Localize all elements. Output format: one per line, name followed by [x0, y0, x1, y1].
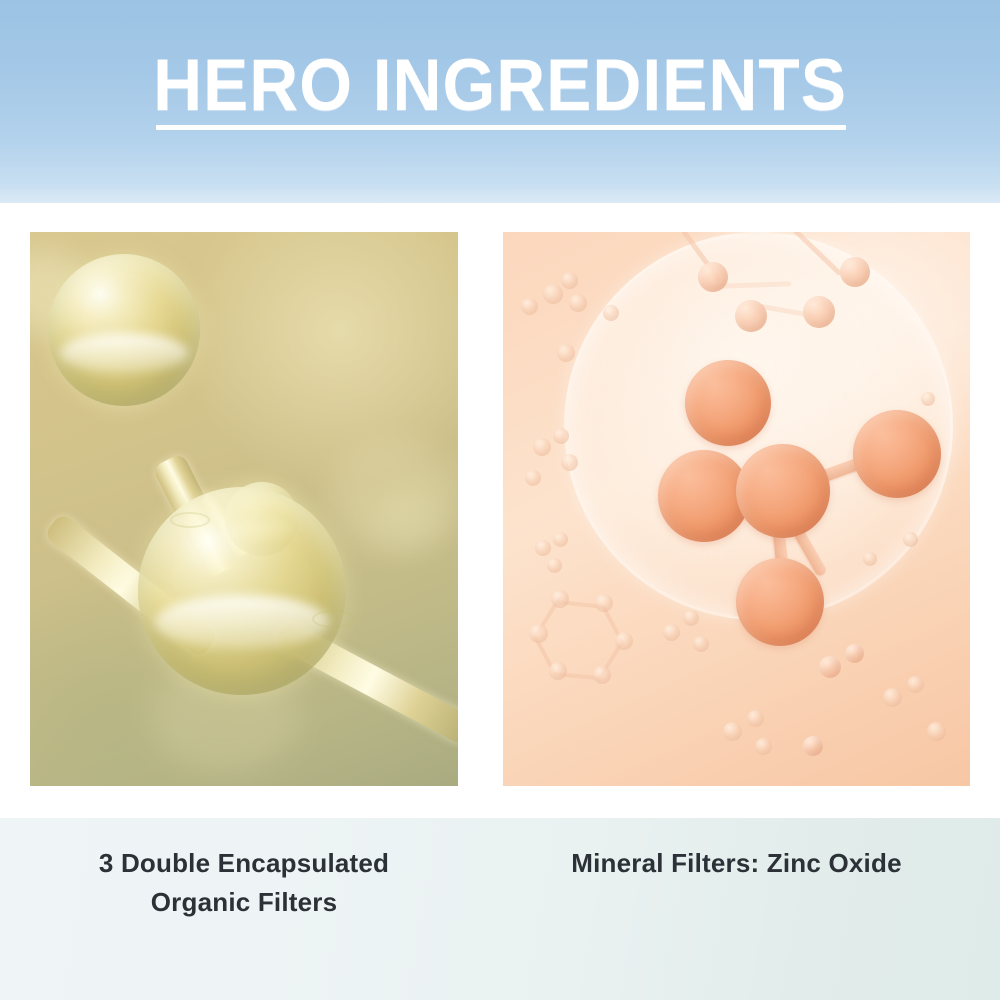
background-atom — [593, 666, 611, 684]
caption-right: Mineral Filters: Zinc Oxide — [503, 844, 970, 883]
background-atom — [903, 532, 918, 547]
background-atom — [521, 298, 538, 315]
caption-left-line-2: Organic Filters — [30, 883, 458, 922]
background-atom — [755, 738, 772, 755]
background-atom — [553, 532, 568, 547]
background-atom — [803, 736, 823, 756]
background-atom — [551, 590, 569, 608]
background-atom — [561, 454, 578, 471]
background-atom — [735, 300, 767, 332]
molecule-sphere-top — [48, 254, 200, 406]
background-atom — [547, 558, 562, 573]
caption-right-line-1: Mineral Filters: Zinc Oxide — [503, 844, 970, 883]
background-atom — [819, 656, 841, 678]
background-atom — [723, 722, 742, 741]
ingredient-image-left — [30, 232, 458, 786]
title-underline — [156, 125, 846, 130]
background-atom — [693, 636, 709, 652]
header-band: HERO INGREDIENTS — [0, 0, 1000, 203]
background-atom — [883, 688, 902, 707]
background-atom — [663, 624, 680, 641]
background-atom — [543, 284, 563, 304]
background-atom — [683, 610, 699, 626]
background-atom — [549, 662, 567, 680]
background-atom — [615, 632, 633, 650]
background-atom — [927, 722, 946, 741]
background-atom — [840, 257, 870, 287]
bokeh-blob — [370, 487, 440, 547]
caption-left: 3 Double Encapsulated Organic Filters — [30, 844, 458, 922]
central-atom-bottom — [736, 558, 824, 646]
central-atom-upper-left — [685, 360, 771, 446]
page-title: HERO INGREDIENTS — [35, 44, 965, 128]
background-atom — [603, 305, 619, 321]
background-atom — [921, 392, 935, 406]
central-atom-right — [853, 410, 941, 498]
background-atom — [561, 272, 578, 289]
ingredient-image-right — [503, 232, 970, 786]
background-atom — [557, 344, 575, 362]
background-atom — [863, 552, 877, 566]
background-atom — [803, 296, 835, 328]
background-atom — [907, 676, 924, 693]
central-atom-hub — [736, 444, 830, 538]
background-atom — [595, 594, 613, 612]
background-atom — [845, 644, 864, 663]
caption-band: 3 Double Encapsulated Organic Filters Mi… — [0, 818, 1000, 1000]
background-atom — [698, 262, 728, 292]
caption-left-line-1: 3 Double Encapsulated — [30, 844, 458, 883]
background-atom — [529, 624, 548, 643]
bond-collar — [312, 610, 354, 628]
background-atom — [525, 470, 541, 486]
background-atom — [533, 438, 551, 456]
background-atom — [569, 294, 587, 312]
background-atom — [535, 540, 551, 556]
bond-collar — [170, 512, 210, 528]
background-atom — [747, 710, 764, 727]
background-atom — [553, 428, 569, 444]
hero-ingredients-poster: HERO INGREDIENTS — [0, 0, 1000, 1000]
